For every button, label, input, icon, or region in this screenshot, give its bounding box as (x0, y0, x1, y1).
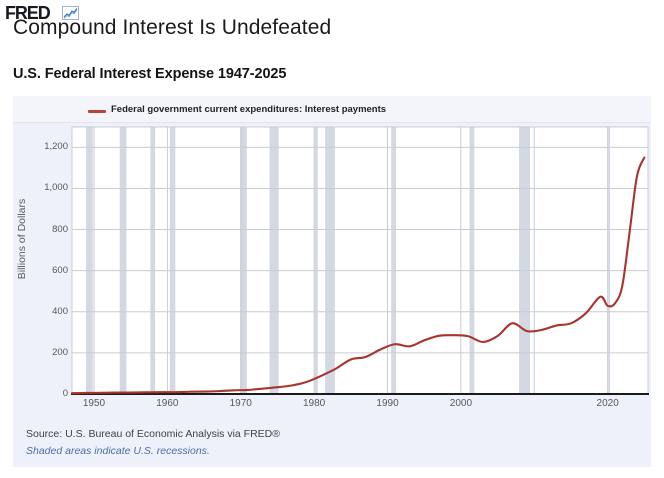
chart-footer: Source: U.S. Bureau of Economic Analysis… (26, 428, 586, 457)
recession-band-8 (391, 127, 396, 394)
recession-band-3 (170, 127, 176, 394)
recession-band-0 (86, 127, 93, 394)
recession-band-1 (120, 127, 127, 394)
recession-band-9 (469, 127, 474, 394)
recession-band-5 (270, 127, 279, 394)
recession-band-10 (519, 127, 530, 394)
recession-note: Shaded areas indicate U.S. recessions. (26, 445, 586, 457)
plot-panel (72, 127, 648, 394)
source-line: Source: U.S. Bureau of Economic Analysis… (26, 428, 586, 440)
recession-band-7 (325, 127, 335, 394)
interest-expense-line-chart (0, 0, 664, 478)
recession-band-11 (608, 127, 610, 394)
recession-band-2 (150, 127, 155, 394)
slide-canvas: Compound Interest Is Undefeated U.S. Fed… (0, 0, 664, 478)
recession-band-6 (315, 127, 318, 394)
